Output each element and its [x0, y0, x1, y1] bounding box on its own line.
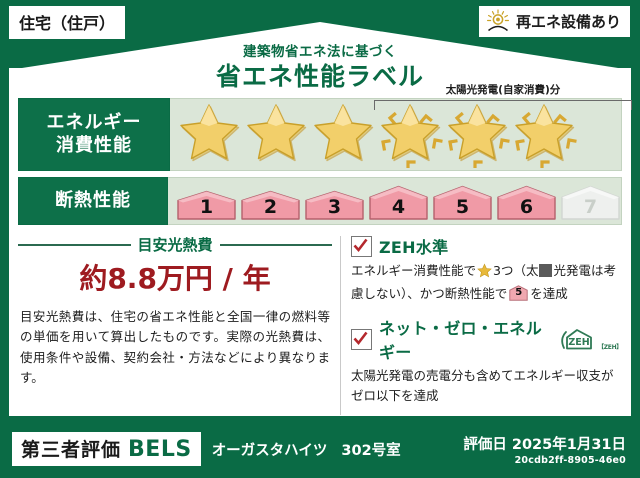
inline-insulation-badge: 5 — [509, 285, 528, 301]
energy-performance-row: エネルギー 消費性能 太陽光発電(自家消費)分 — [18, 98, 622, 171]
utility-cost-value: 約8.8万円 / 年 — [18, 257, 332, 297]
housing-type-badge: 住宅（住戸） — [9, 6, 125, 39]
energy-label-line1: エネルギー — [47, 112, 142, 135]
star-filled — [176, 102, 243, 168]
star-filled — [310, 102, 377, 168]
inline-star-icon — [477, 263, 492, 284]
star-solar — [511, 102, 578, 168]
insulation-badge-number: 3 — [304, 196, 365, 218]
bels-certification-box: 第三者評価 BELS — [12, 432, 201, 466]
insulation-label: 断熱性能 — [55, 190, 131, 213]
star-solar — [377, 102, 444, 168]
insulation-badge-achieved: 5 — [432, 185, 493, 221]
insulation-badge-inactive: 7 — [560, 185, 621, 221]
solar-generation-note: 太陽光発電(自家消費)分 — [372, 82, 634, 97]
net-zero-header: ネット・ゼロ・エネルギー ZEH 【ZEH】 — [351, 315, 622, 363]
renewable-badge-label: 再エネ設備あり — [516, 11, 621, 32]
zeh-level-header: ZEH水準 — [351, 234, 622, 258]
insulation-badge-number: 1 — [176, 196, 237, 218]
third-party-label: 第三者評価 — [21, 435, 121, 462]
zeh-desc-part1: エネルギー消費性能で — [351, 263, 476, 278]
svg-text:ZEH: ZEH — [568, 337, 589, 348]
insulation-label-box: 断熱性能 — [18, 177, 168, 225]
insulation-badge-achieved: 6 — [496, 185, 557, 221]
zeh-level-checkbox — [351, 236, 372, 257]
energy-performance-label-box: エネルギー 消費性能 — [18, 98, 170, 171]
utility-cost-heading-row: 目安光熱費 — [18, 234, 332, 255]
lower-section: 目安光熱費 約8.8万円 / 年 目安光熱費は、住宅の省エネ性能と全国一律の燃料… — [18, 234, 622, 417]
insulation-badge-achieved: 2 — [240, 190, 301, 221]
evaluation-info: 評価日 2025年1月31日 20cdb2ff-8905-46e0 — [463, 433, 626, 466]
zeh-logo-sub: 【ZEH】 — [598, 342, 622, 351]
zeh-level-title: ZEH水準 — [379, 234, 448, 258]
insulation-performance-row: 断熱性能 1234567 — [18, 177, 622, 225]
utility-cost-note: 目安光熱費は、住宅の省エネ性能と全国一律の燃料等の単価を用いて算出したものです。… — [18, 307, 332, 388]
insulation-badge-number: 6 — [496, 196, 557, 218]
utility-cost-heading: 目安光熱費 — [138, 234, 213, 255]
evaluation-uid: 20cdb2ff-8905-46e0 — [463, 455, 626, 466]
insulation-badge-achieved: 3 — [304, 190, 365, 221]
net-zero-description: 太陽光発電の売電分も含めてエネルギー収支がゼロ以下を達成 — [351, 366, 622, 406]
zeh-desc-part4: を達成 — [530, 286, 568, 301]
redacted-character — [539, 264, 552, 277]
zeh-level-description: エネルギー消費性能で3つ（太光発電は考慮しない）、かつ断熱性能で5を達成 — [351, 261, 622, 304]
insulation-badge-number: 5 — [432, 196, 493, 218]
insulation-badge-number: 4 — [368, 196, 429, 218]
bels-logo-text: BELS — [128, 437, 192, 462]
star-filled — [243, 102, 310, 168]
column-divider — [340, 236, 341, 415]
energy-stars-panel: 太陽光発電(自家消費)分 — [170, 98, 622, 171]
inline-badge-number: 5 — [509, 285, 528, 301]
net-zero-checkbox — [351, 329, 372, 350]
insulation-level-list: 1234567 — [168, 178, 621, 224]
energy-label-line2: 消費性能 — [56, 135, 132, 158]
insulation-levels-panel: 1234567 — [168, 177, 622, 225]
building-name: オーガスタハイツ — [212, 439, 328, 460]
zeh-logo: ZEH 【ZEH】 — [558, 327, 622, 351]
room-number: 302号室 — [341, 439, 400, 460]
label-content: エネルギー 消費性能 太陽光発電(自家消費)分 断熱性能 1234567 — [18, 98, 622, 417]
sun-icon — [485, 9, 511, 33]
heading-rule-left — [18, 244, 131, 246]
renewable-equipment-badge: 再エネ設備あり — [479, 6, 630, 37]
insulation-badge-number: 2 — [240, 196, 301, 218]
zeh-desc-part2: 3つ（太 — [493, 263, 538, 278]
energy-performance-label: 住宅（住戸） 再エネ設備あり 建築物省エネ法に基づく 省エネ性能ラベル — [0, 0, 640, 478]
certification-column: ZEH水準 エネルギー消費性能で3つ（太光発電は考慮しない）、かつ断熱性能で5を… — [351, 234, 622, 417]
utility-cost-column: 目安光熱費 約8.8万円 / 年 目安光熱費は、住宅の省エネ性能と全国一律の燃料… — [18, 234, 340, 417]
insulation-badge-achieved: 4 — [368, 185, 429, 221]
footer-bar: 第三者評価 BELS オーガスタハイツ 302号室 評価日 2025年1月31日… — [0, 420, 640, 478]
net-zero-title: ネット・ゼロ・エネルギー — [379, 315, 547, 363]
star-solar — [444, 102, 511, 168]
insulation-badge-achieved: 1 — [176, 190, 237, 221]
solar-bracket — [374, 100, 632, 110]
insulation-badge-number: 7 — [560, 196, 621, 218]
heading-rule-right — [220, 244, 333, 246]
evaluation-date: 評価日 2025年1月31日 — [463, 433, 626, 454]
